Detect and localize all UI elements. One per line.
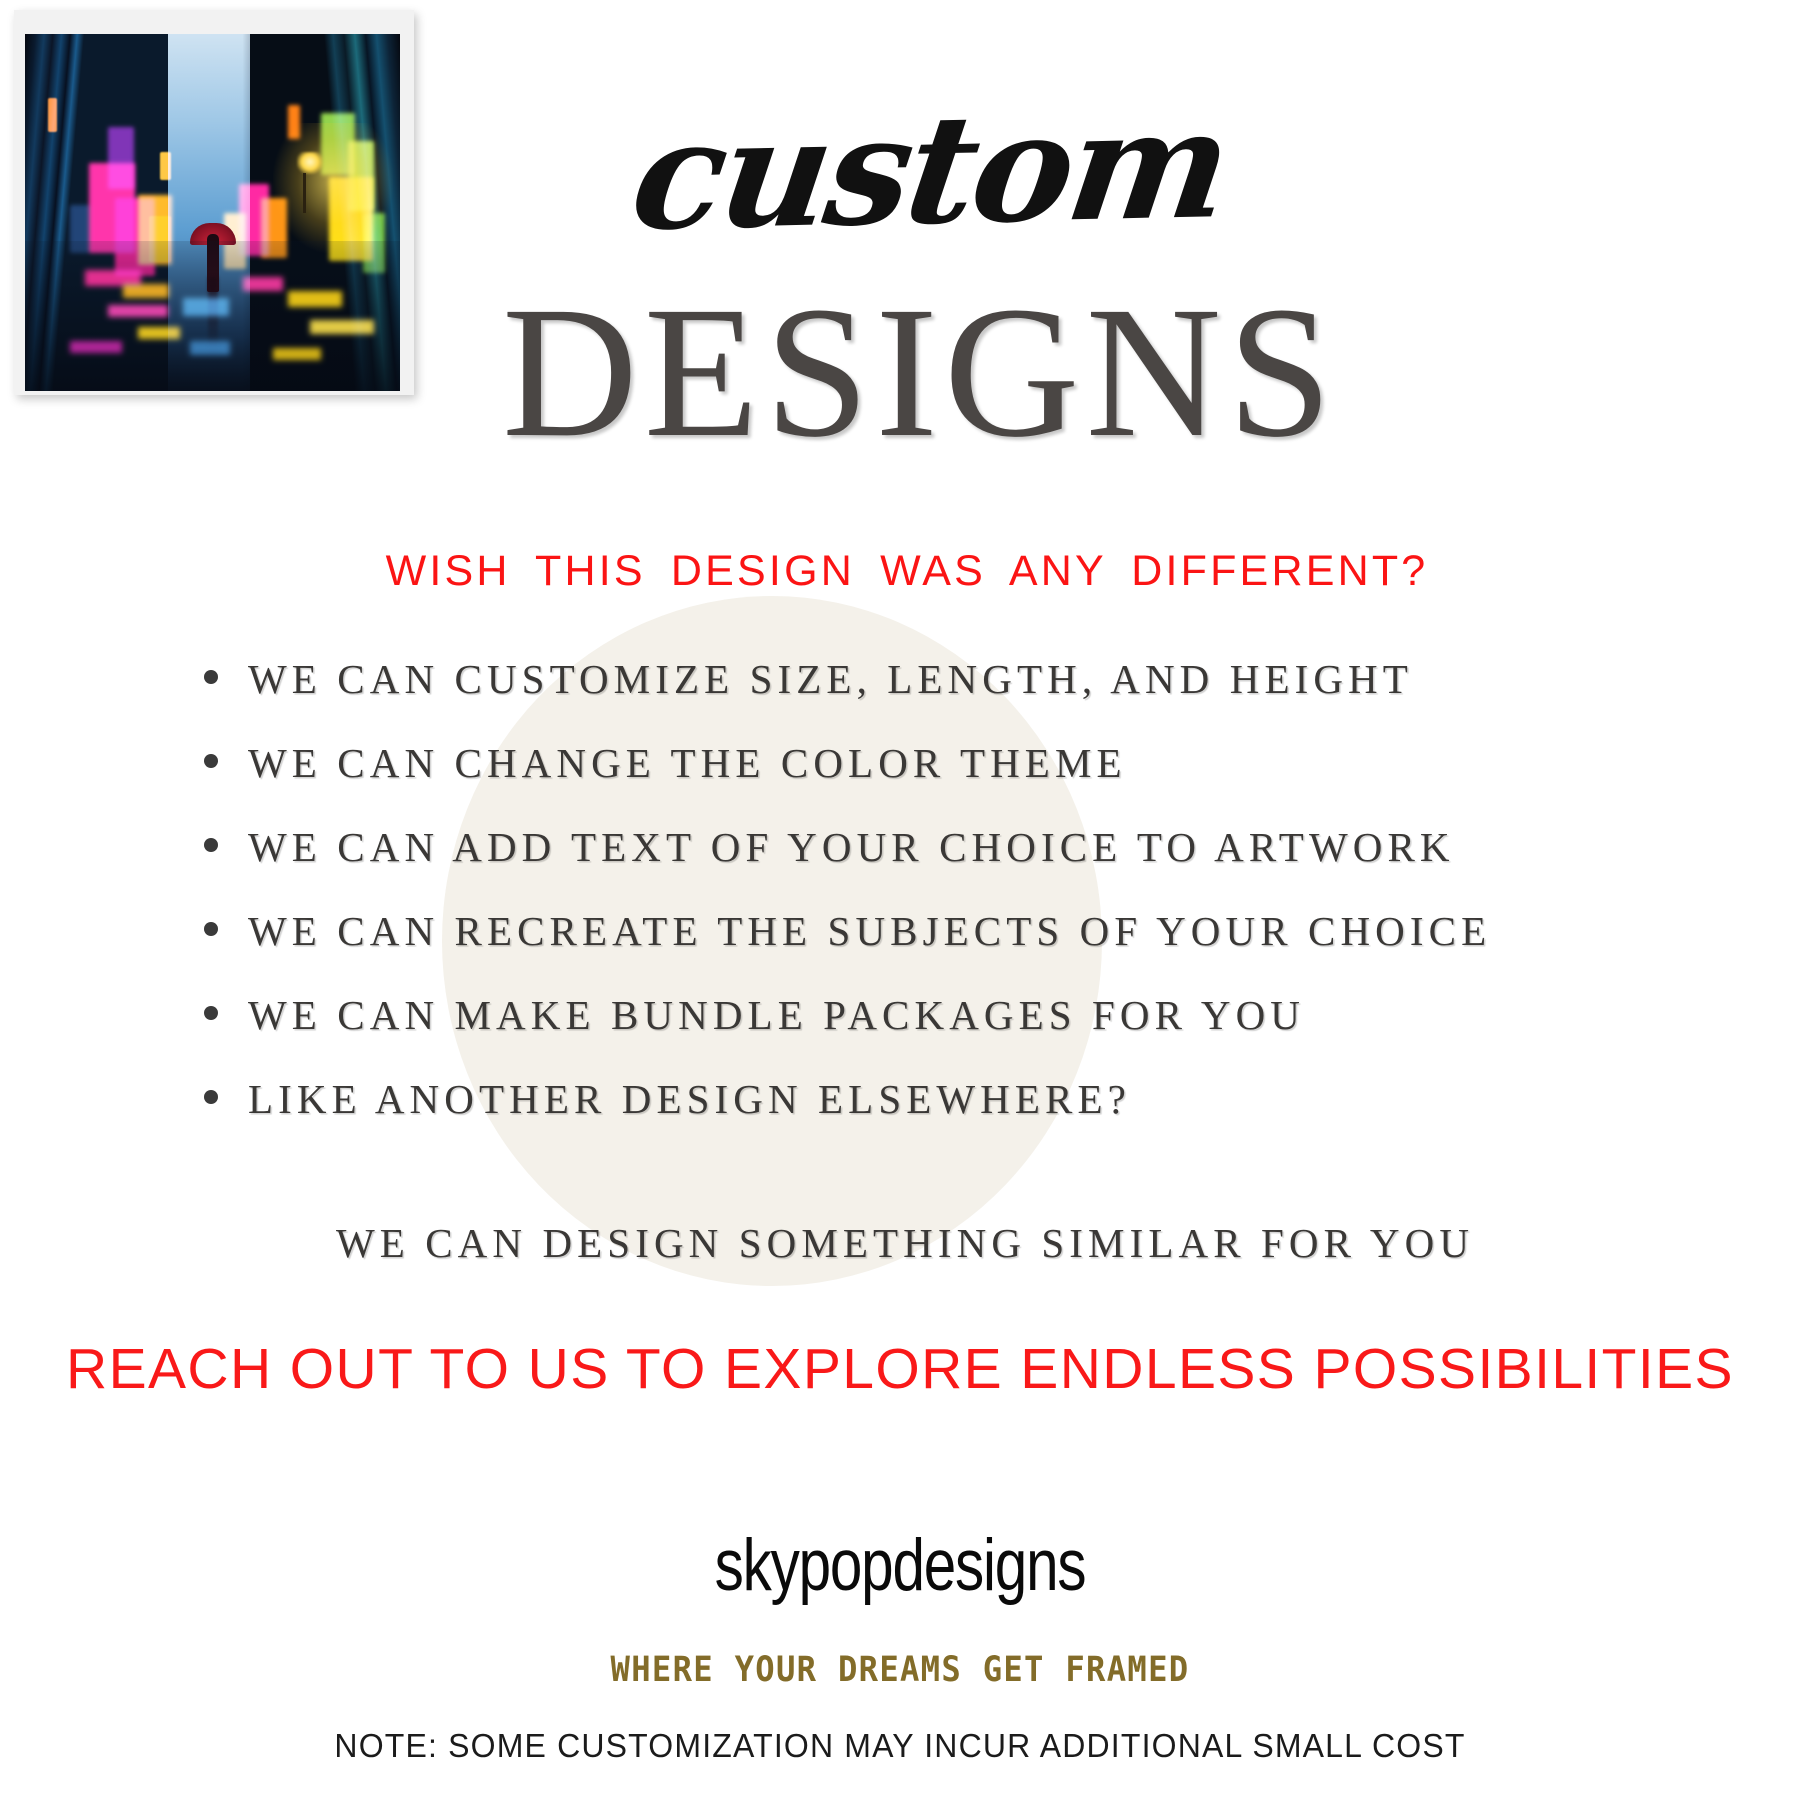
list-item-label: WE CAN MAKE BUNDLE PACKAGES FOR YOU [248, 991, 1305, 1039]
list-item-label: WE CAN ADD TEXT OF YOUR CHOICE TO ARTWOR… [248, 823, 1455, 871]
page-title-designs: DESIGNS [0, 278, 1800, 466]
list-item: WE CAN CHANGE THE COLOR THEME [0, 739, 1800, 823]
list-item-label: WE CAN CHANGE THE COLOR THEME [248, 739, 1127, 787]
bullet-dot-icon [204, 670, 218, 684]
list-item: WE CAN CUSTOMIZE SIZE, LENGTH, AND HEIGH… [0, 655, 1800, 739]
list-item: WE CAN RECREATE THE SUBJECTS OF YOUR CHO… [0, 907, 1800, 991]
brand-logo-text: skypopdesigns [180, 1524, 1620, 1607]
list-item-label: WE CAN RECREATE THE SUBJECTS OF YOUR CHO… [248, 907, 1491, 955]
subtitle-question: WISH THIS DESIGN WAS ANY DIFFERENT? [0, 547, 1800, 596]
list-item-continuation: WE CAN DESIGN SOMETHING SIMILAR FOR YOU [0, 1219, 1800, 1267]
bullet-dot-icon [204, 1006, 218, 1020]
call-to-action-text: REACH OUT TO US TO EXPLORE ENDLESS POSSI… [0, 1336, 1800, 1402]
list-item: WE CAN ADD TEXT OF YOUR CHOICE TO ARTWOR… [0, 823, 1800, 907]
brand-tagline: WHERE YOUR DREAMS GET FRAMED [72, 1650, 1728, 1690]
bullet-dot-icon [204, 1090, 218, 1104]
list-item-label: LIKE ANOTHER DESIGN ELSEWHERE? [248, 1075, 1131, 1123]
feature-bullet-list: WE CAN CUSTOMIZE SIZE, LENGTH, AND HEIGH… [0, 655, 1800, 1159]
bullet-dot-icon [204, 754, 218, 768]
list-item-label: WE CAN CUSTOMIZE SIZE, LENGTH, AND HEIGH… [248, 655, 1413, 703]
bullet-dot-icon [204, 922, 218, 936]
list-item: LIKE ANOTHER DESIGN ELSEWHERE? [0, 1075, 1800, 1159]
bullet-dot-icon [204, 838, 218, 852]
list-item-continuation-label: WE CAN DESIGN SOMETHING SIMILAR FOR YOU [326, 1220, 1474, 1266]
list-item: WE CAN MAKE BUNDLE PACKAGES FOR YOU [0, 991, 1800, 1075]
footer-note: NOTE: SOME CUSTOMIZATION MAY INCUR ADDIT… [27, 1727, 1773, 1765]
